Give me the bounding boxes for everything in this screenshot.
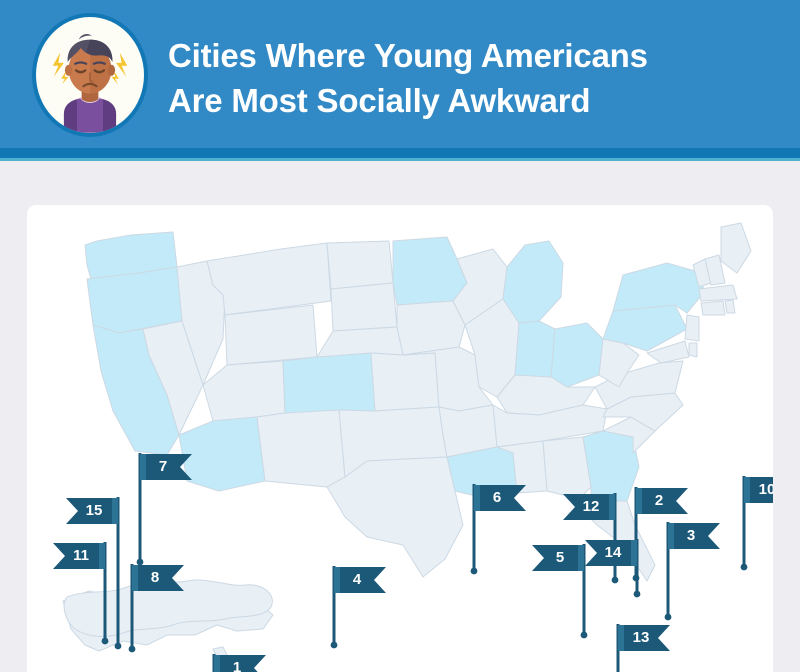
map-pin-rank-8[interactable]: 8: [129, 563, 187, 655]
map-card: 123456789101112131415: [27, 205, 773, 672]
state-new-jersey: [685, 315, 699, 341]
flag-banner: [132, 565, 184, 591]
flag-hoist-strip: [636, 488, 642, 514]
flag-hoist-strip: [618, 625, 624, 651]
map-pin-rank-15[interactable]: 15: [65, 496, 123, 652]
flag-marker-icon: [129, 563, 187, 655]
flag-banner: [140, 454, 192, 480]
page-title-line-2: Are Most Socially Awkward: [168, 79, 768, 124]
state-south-dakota: [331, 283, 397, 331]
flag-banner: [636, 488, 688, 514]
flag-marker-icon: [615, 623, 673, 672]
flag-anchor-dot: [115, 643, 122, 650]
state-ohio: [551, 323, 603, 387]
state-nebraska: [317, 327, 403, 357]
lightning-bolt-icon: [116, 53, 127, 77]
flag-hoist-strip: [474, 485, 480, 511]
flag-anchor-dot: [741, 564, 748, 571]
flag-banner: [585, 540, 637, 566]
stressed-young-person-avatar-icon: [36, 17, 144, 133]
flag-banner: [563, 494, 615, 520]
map-pin-rank-1[interactable]: 1: [211, 653, 269, 672]
flag-hoist-strip: [334, 567, 340, 593]
state-new-york: [613, 263, 705, 313]
flag-marker-icon: [65, 496, 123, 652]
state-kansas: [371, 353, 439, 411]
state-delaware: [689, 343, 697, 357]
flag-hoist-strip: [132, 565, 138, 591]
state-indiana: [515, 321, 555, 383]
flag-hoist-strip: [631, 540, 637, 566]
flag-anchor-dot: [665, 614, 672, 621]
flag-marker-icon: [741, 475, 773, 573]
flag-banner: [474, 485, 526, 511]
map-pin-rank-6[interactable]: 6: [471, 483, 529, 577]
state-oregon: [87, 267, 182, 333]
page-title-line-1: Cities Where Young Americans: [168, 37, 648, 74]
map-pin-rank-3[interactable]: 3: [665, 521, 723, 623]
header-accent-rule-secondary: [0, 158, 800, 161]
flag-hoist-strip: [668, 523, 674, 549]
state-wyoming: [225, 305, 317, 365]
state-alabama: [543, 437, 591, 499]
infographic-page: Cities Where Young Americans Are Most So…: [0, 0, 800, 672]
flag-hoist-strip: [140, 454, 146, 480]
flag-marker-icon: [584, 538, 642, 600]
state-rhode-island: [725, 300, 735, 313]
flag-hoist-strip: [112, 498, 118, 524]
header-accent-rule: [0, 148, 800, 158]
state-georgia: [583, 431, 639, 501]
state-texas: [327, 457, 463, 577]
state-colorado: [283, 353, 375, 413]
flag-marker-icon: [331, 565, 389, 651]
map-pin-rank-7[interactable]: 7: [137, 452, 195, 568]
flag-banner: [214, 655, 266, 672]
flag-hoist-strip: [214, 655, 220, 672]
map-pin-rank-4[interactable]: 4: [331, 565, 389, 651]
state-michigan: [503, 241, 563, 323]
flag-banner: [618, 625, 670, 651]
map-pin-rank-10[interactable]: 10: [741, 475, 773, 573]
flag-anchor-dot: [471, 568, 478, 575]
flag-banner: [66, 498, 118, 524]
state-connecticut: [701, 301, 725, 315]
map-pin-rank-13[interactable]: 13: [615, 623, 673, 672]
state-new-mexico: [257, 410, 345, 487]
page-title: Cities Where Young Americans Are Most So…: [168, 34, 768, 124]
state-north-dakota: [327, 241, 393, 289]
state-minnesota: [393, 237, 467, 305]
flag-anchor-dot: [331, 642, 338, 649]
flag-banner: [668, 523, 720, 549]
state-montana: [207, 243, 331, 315]
state-massachusetts: [699, 285, 737, 301]
flag-anchor-dot: [129, 646, 136, 653]
avatar: [32, 13, 148, 137]
flag-marker-icon: [211, 653, 269, 672]
state-utah: [203, 361, 285, 421]
state-iowa: [397, 301, 465, 355]
flag-marker-icon: [665, 521, 723, 623]
state-maine: [721, 223, 751, 273]
flag-anchor-dot: [634, 591, 641, 598]
flag-hoist-strip: [744, 477, 750, 503]
flag-hoist-strip: [609, 494, 615, 520]
flag-marker-icon: [471, 483, 529, 577]
map-pin-rank-14[interactable]: 14: [584, 538, 642, 600]
flag-banner: [334, 567, 386, 593]
flag-marker-icon: [137, 452, 195, 568]
flag-anchor-dot: [581, 632, 588, 639]
lightning-bolt-icon: [53, 53, 64, 77]
